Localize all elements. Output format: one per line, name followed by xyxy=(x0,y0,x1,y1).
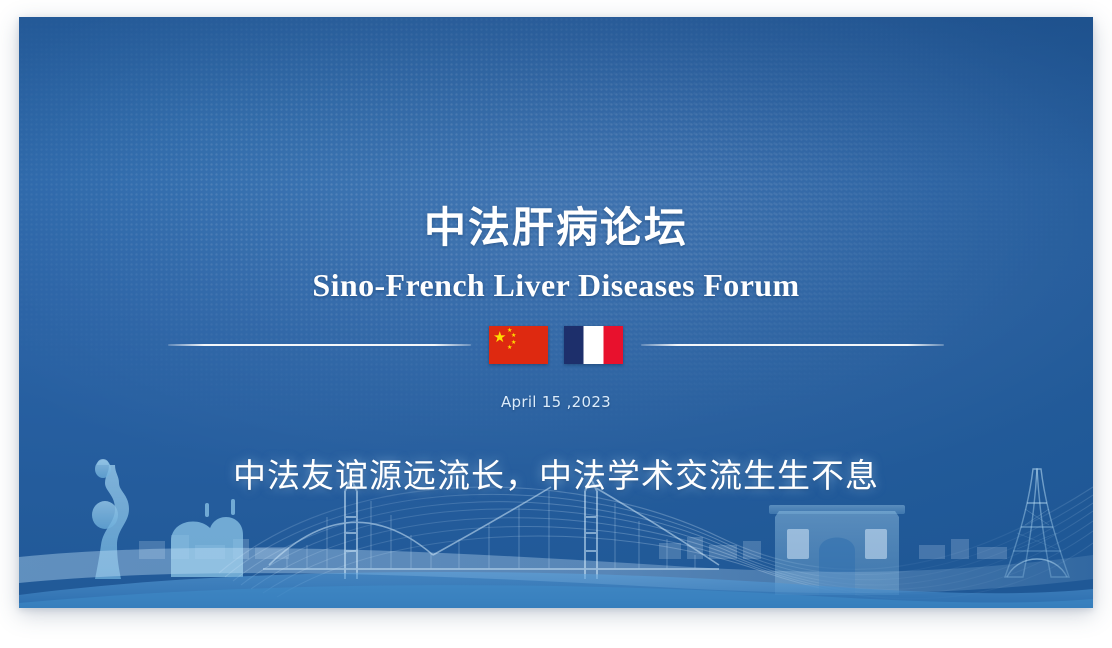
flag-divider-row: ★ ★ ★ ★ ★ xyxy=(19,322,1093,368)
divider-line-left xyxy=(168,344,471,346)
slide-content: 中法肝病论坛 Sino-French Liver Diseases Forum … xyxy=(19,17,1093,608)
page-title-english: Sino-French Liver Diseases Forum xyxy=(19,267,1093,304)
china-flag-icon: ★ ★ ★ ★ ★ xyxy=(489,326,548,364)
page-title-chinese: 中法肝病论坛 xyxy=(19,203,1093,253)
page-canvas: 中法肝病论坛 Sino-French Liver Diseases Forum … xyxy=(0,0,1112,648)
china-flag-star-large: ★ xyxy=(493,330,506,345)
slide-tagline: 中法友谊源远流长，中法学术交流生生不息 xyxy=(19,449,1093,497)
china-flag-star-small-4: ★ xyxy=(507,345,512,351)
france-flag-icon xyxy=(564,326,623,364)
flag-group: ★ ★ ★ ★ ★ xyxy=(489,326,623,364)
divider-line-right xyxy=(641,344,944,346)
presentation-slide: 中法肝病论坛 Sino-French Liver Diseases Forum … xyxy=(19,17,1093,608)
event-date: April 15 ,2023 xyxy=(19,393,1093,411)
